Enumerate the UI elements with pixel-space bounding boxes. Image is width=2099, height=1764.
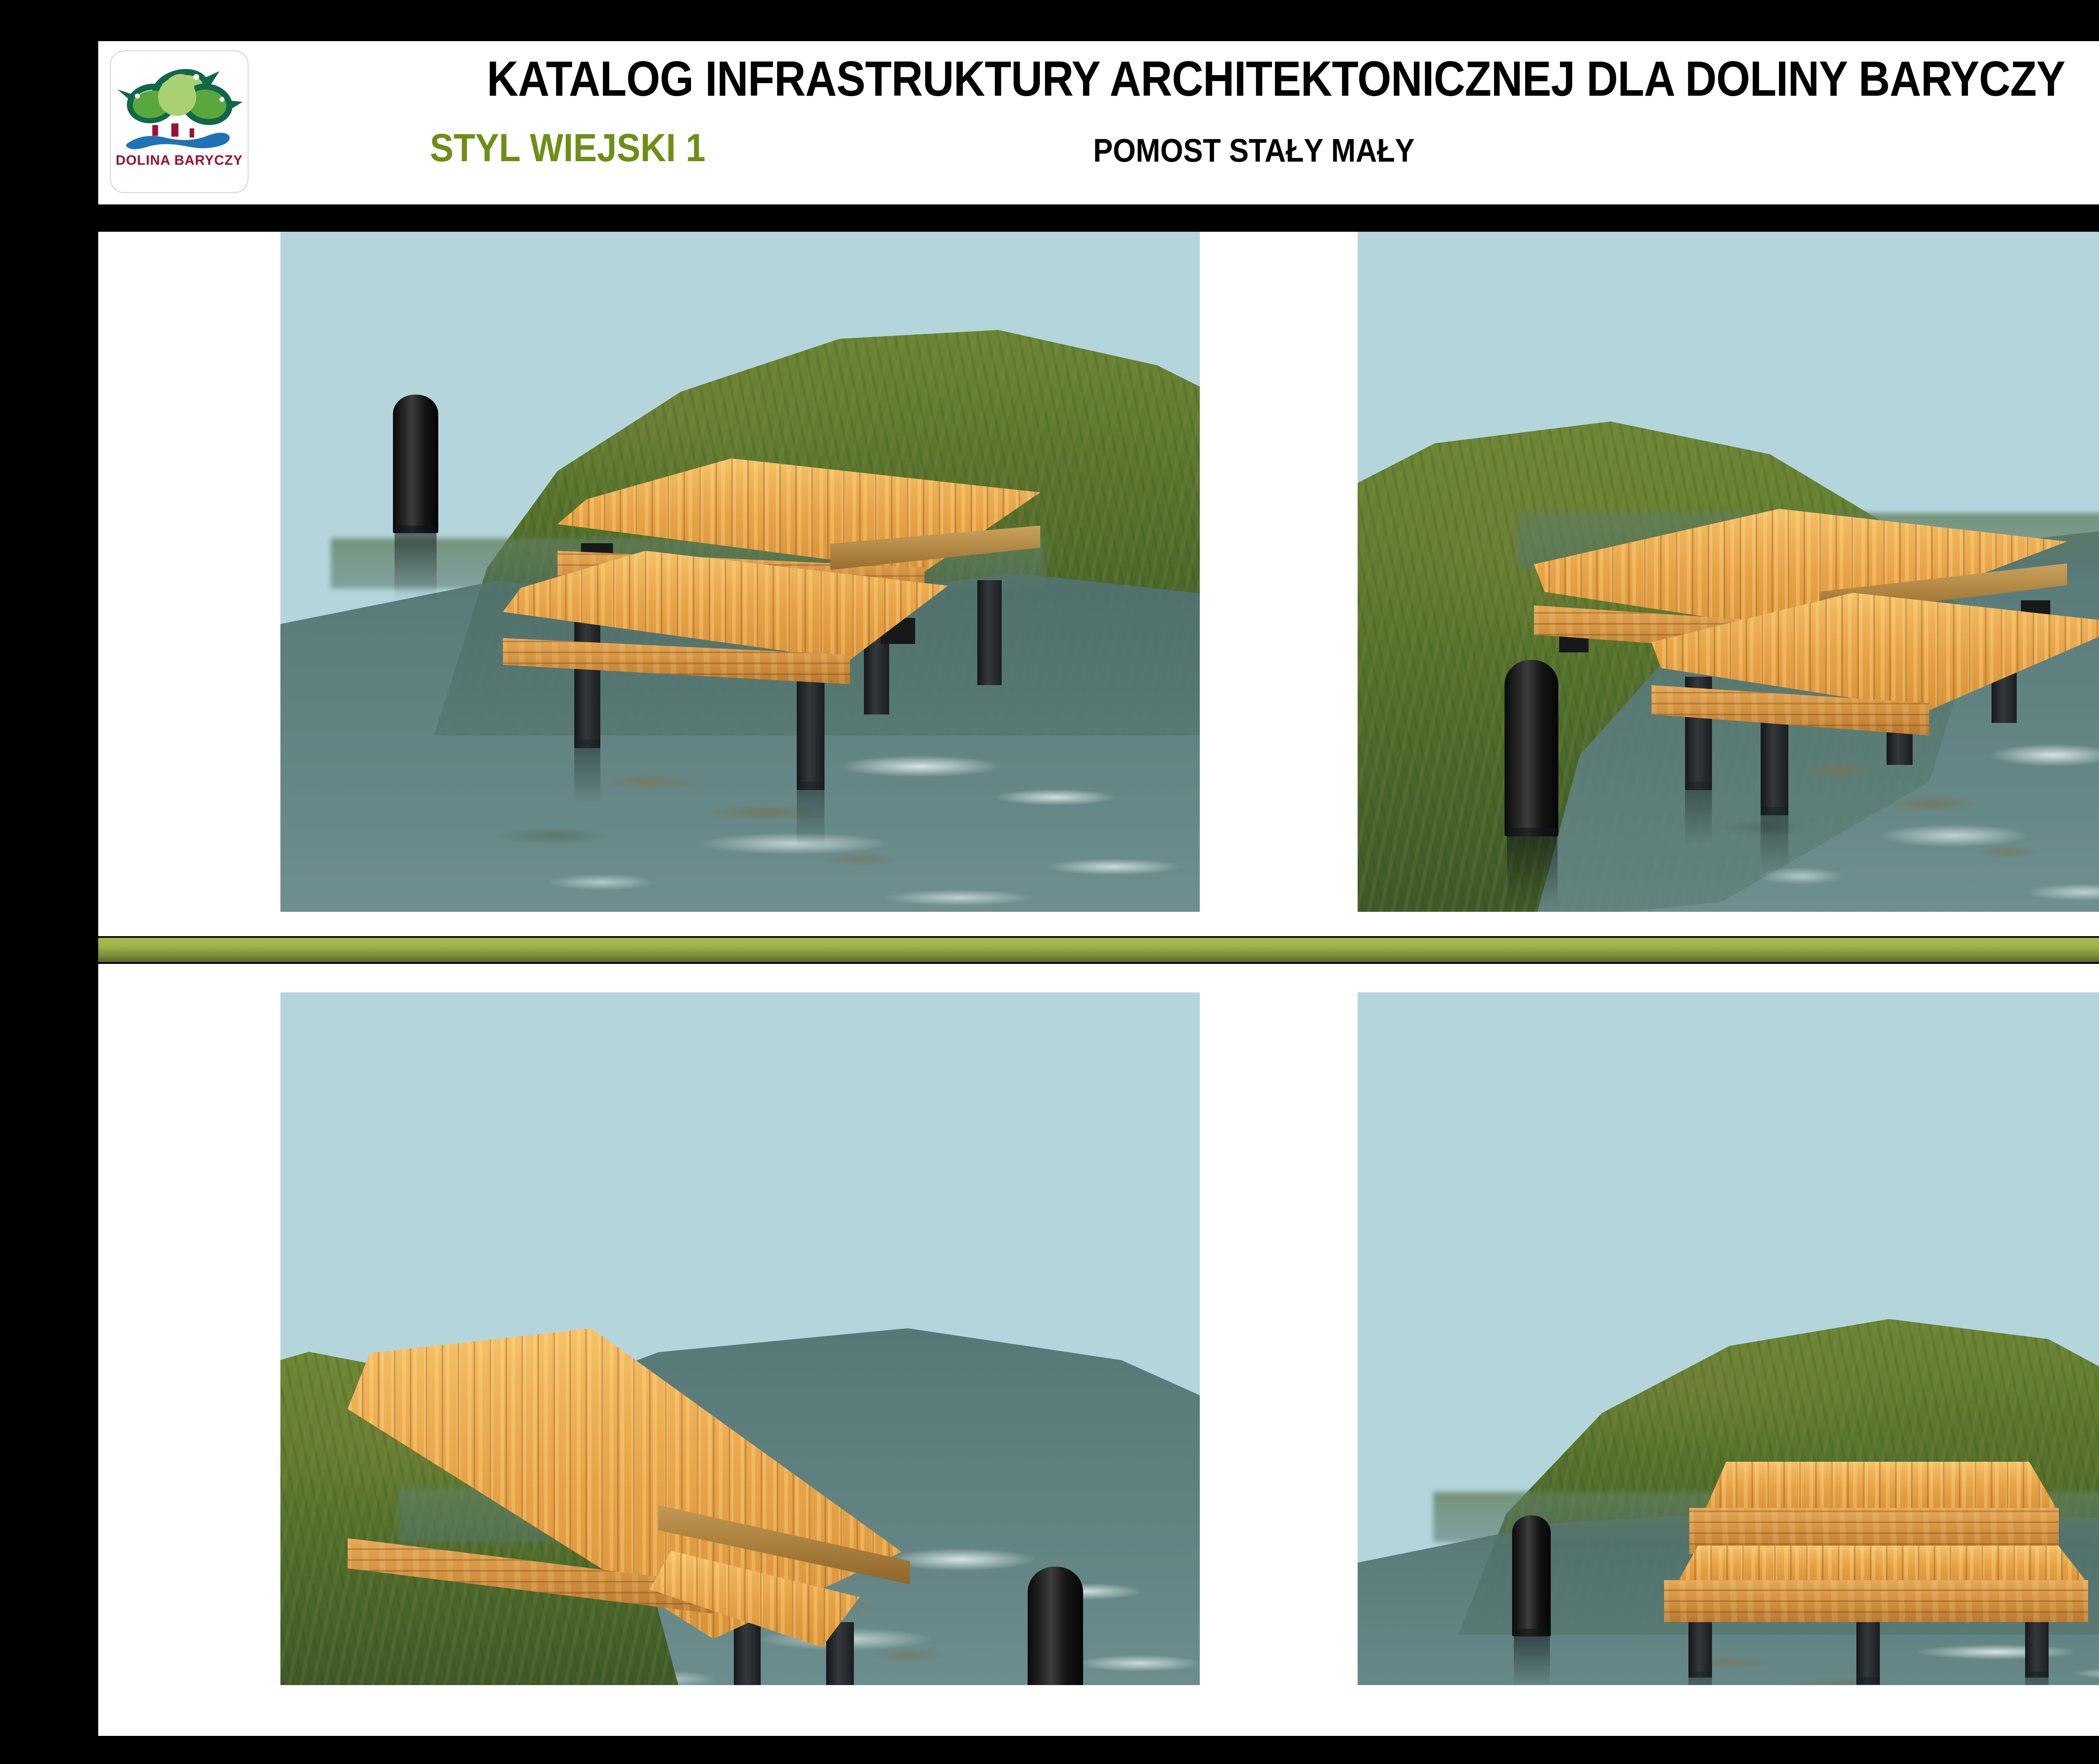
catalog-sheet: DOLINA BARYCZY KATALOG INFRASTRUKTURY AR… (0, 0, 2099, 1764)
leg-reflection (1761, 807, 1788, 870)
support-leg (574, 622, 600, 748)
render-top-left (280, 232, 1200, 912)
lower-deck-face (1664, 1580, 2088, 1622)
page-title: KATALOG INFRASTRUKTURY ARCHITEKTONICZNEJ… (240, 50, 2099, 107)
lower-deck-surface (1664, 1546, 2088, 1583)
black-bollard (393, 395, 438, 533)
black-bollard (1505, 660, 1558, 836)
dolina-baryczy-logo: DOLINA BARYCZY (110, 50, 249, 193)
header-band: DOLINA BARYCZY KATALOG INFRASTRUKTURY AR… (98, 41, 2099, 204)
render-bottom-left (280, 992, 1200, 1685)
leg-reflection (1856, 1677, 1880, 1685)
logo-trees-icon (118, 67, 243, 126)
leg-reflection (1688, 1672, 1712, 1685)
bollard-reflection (1507, 828, 1557, 908)
logo-posts-icon (152, 123, 194, 138)
render-top-right (1358, 232, 2099, 912)
bollard-reflection (395, 526, 437, 601)
support-leg (1856, 1611, 1880, 1685)
object-subtitle: POMOST STAŁY MAŁY (1093, 131, 1415, 170)
black-bollard (1028, 1567, 1083, 1685)
section-divider (98, 936, 2099, 964)
render-bottom-right (1358, 992, 2099, 1685)
support-leg (977, 580, 1002, 685)
footer-bar (0, 1736, 2099, 1764)
upper-deck-surface (1689, 1462, 2059, 1512)
leg-reflection (1685, 782, 1712, 845)
bollard-reflection (1514, 1629, 1550, 1685)
leg-reflection (2025, 1672, 2049, 1685)
leg-reflection (574, 740, 600, 803)
style-label: STYL WIEJSKI 1 (430, 125, 706, 170)
leg-reflection (797, 782, 824, 849)
logo-graphic: DOLINA BARYCZY (111, 51, 248, 192)
black-bollard (1512, 1515, 1551, 1636)
content-sheet (98, 232, 2099, 1736)
logo-wordmark: DOLINA BARYCZY (116, 152, 243, 168)
